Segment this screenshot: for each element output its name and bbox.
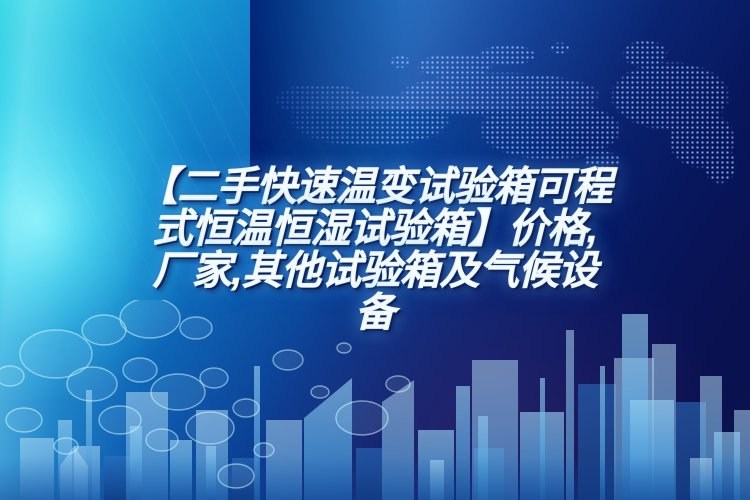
purple-streak (0, 0, 750, 110)
page-title: 【二手快速温变试验箱可程 式恒温恒湿试验箱】价格, 厂家,其他试验箱及气候设 备 (0, 166, 750, 334)
promo-banner: 【二手快速温变试验箱可程 式恒温恒湿试验箱】价格, 厂家,其他试验箱及气候设 备 (0, 0, 750, 500)
